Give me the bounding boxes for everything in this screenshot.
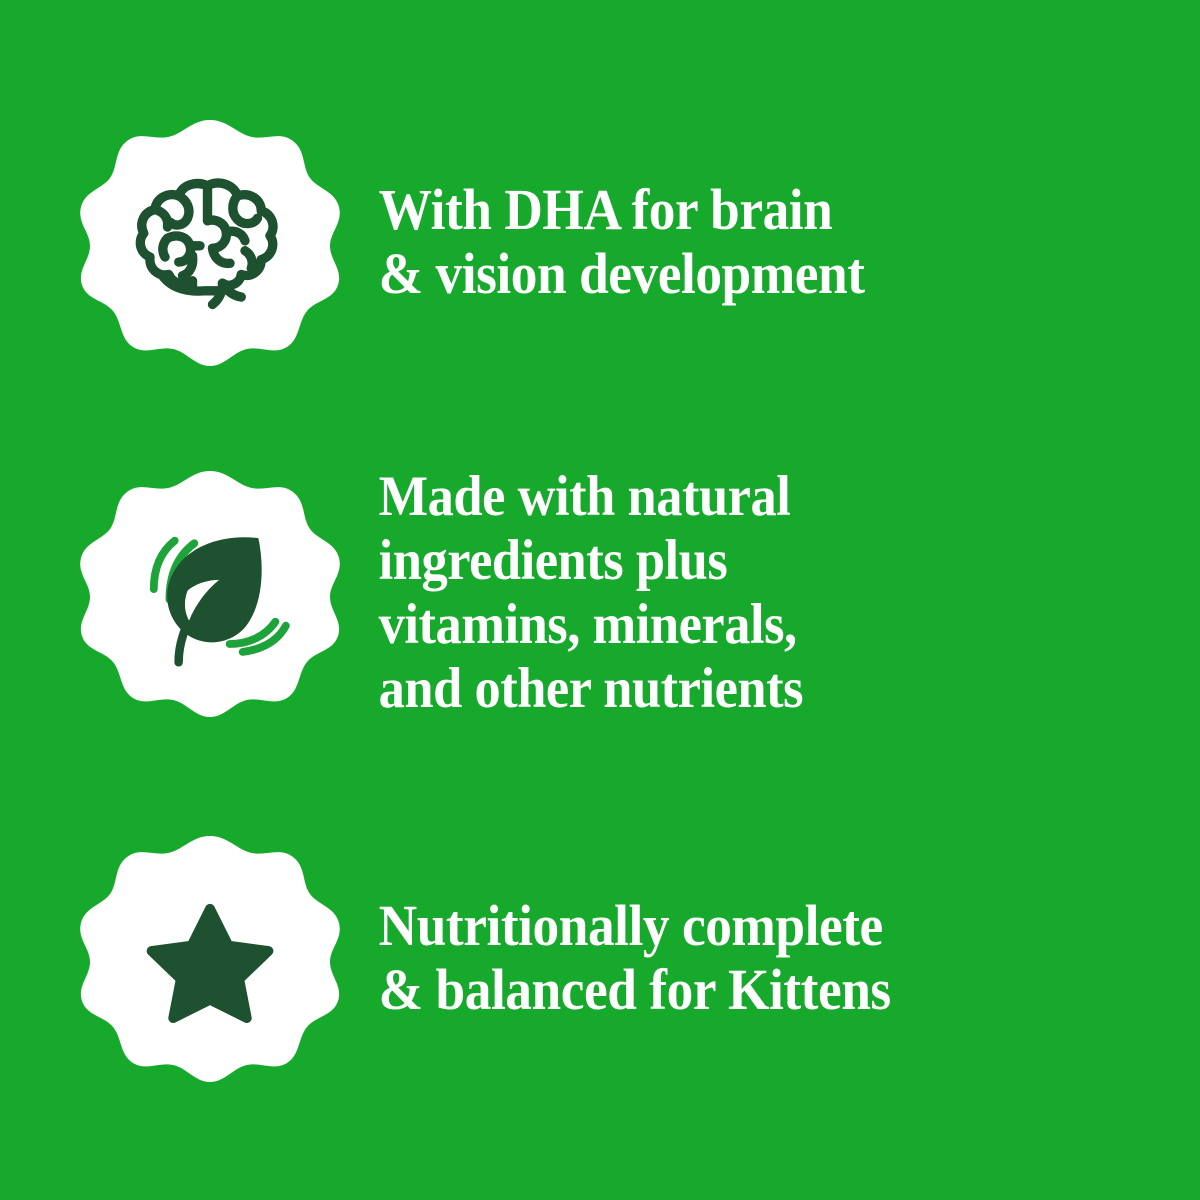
feature-item-nutrition: Nutritionally complete & balanced for Ki… <box>80 828 1150 1088</box>
star-icon <box>145 893 275 1023</box>
feature-label-natural: Made with natural ingredients plus vitam… <box>340 465 803 720</box>
feature-label-dha: With DHA for brain & vision development <box>340 178 865 306</box>
badge-brain <box>80 112 340 372</box>
feature-item-natural: Made with natural ingredients plus vitam… <box>80 463 1150 723</box>
feature-panel: With DHA for brain & vision development <box>0 0 1200 1200</box>
feature-label-nutrition: Nutritionally complete & balanced for Ki… <box>340 894 891 1022</box>
feature-item-dha: With DHA for brain & vision development <box>80 112 1150 372</box>
badge-leaf <box>80 463 340 723</box>
brain-icon <box>135 167 285 317</box>
leaf-icon <box>125 508 295 678</box>
badge-star <box>80 828 340 1088</box>
